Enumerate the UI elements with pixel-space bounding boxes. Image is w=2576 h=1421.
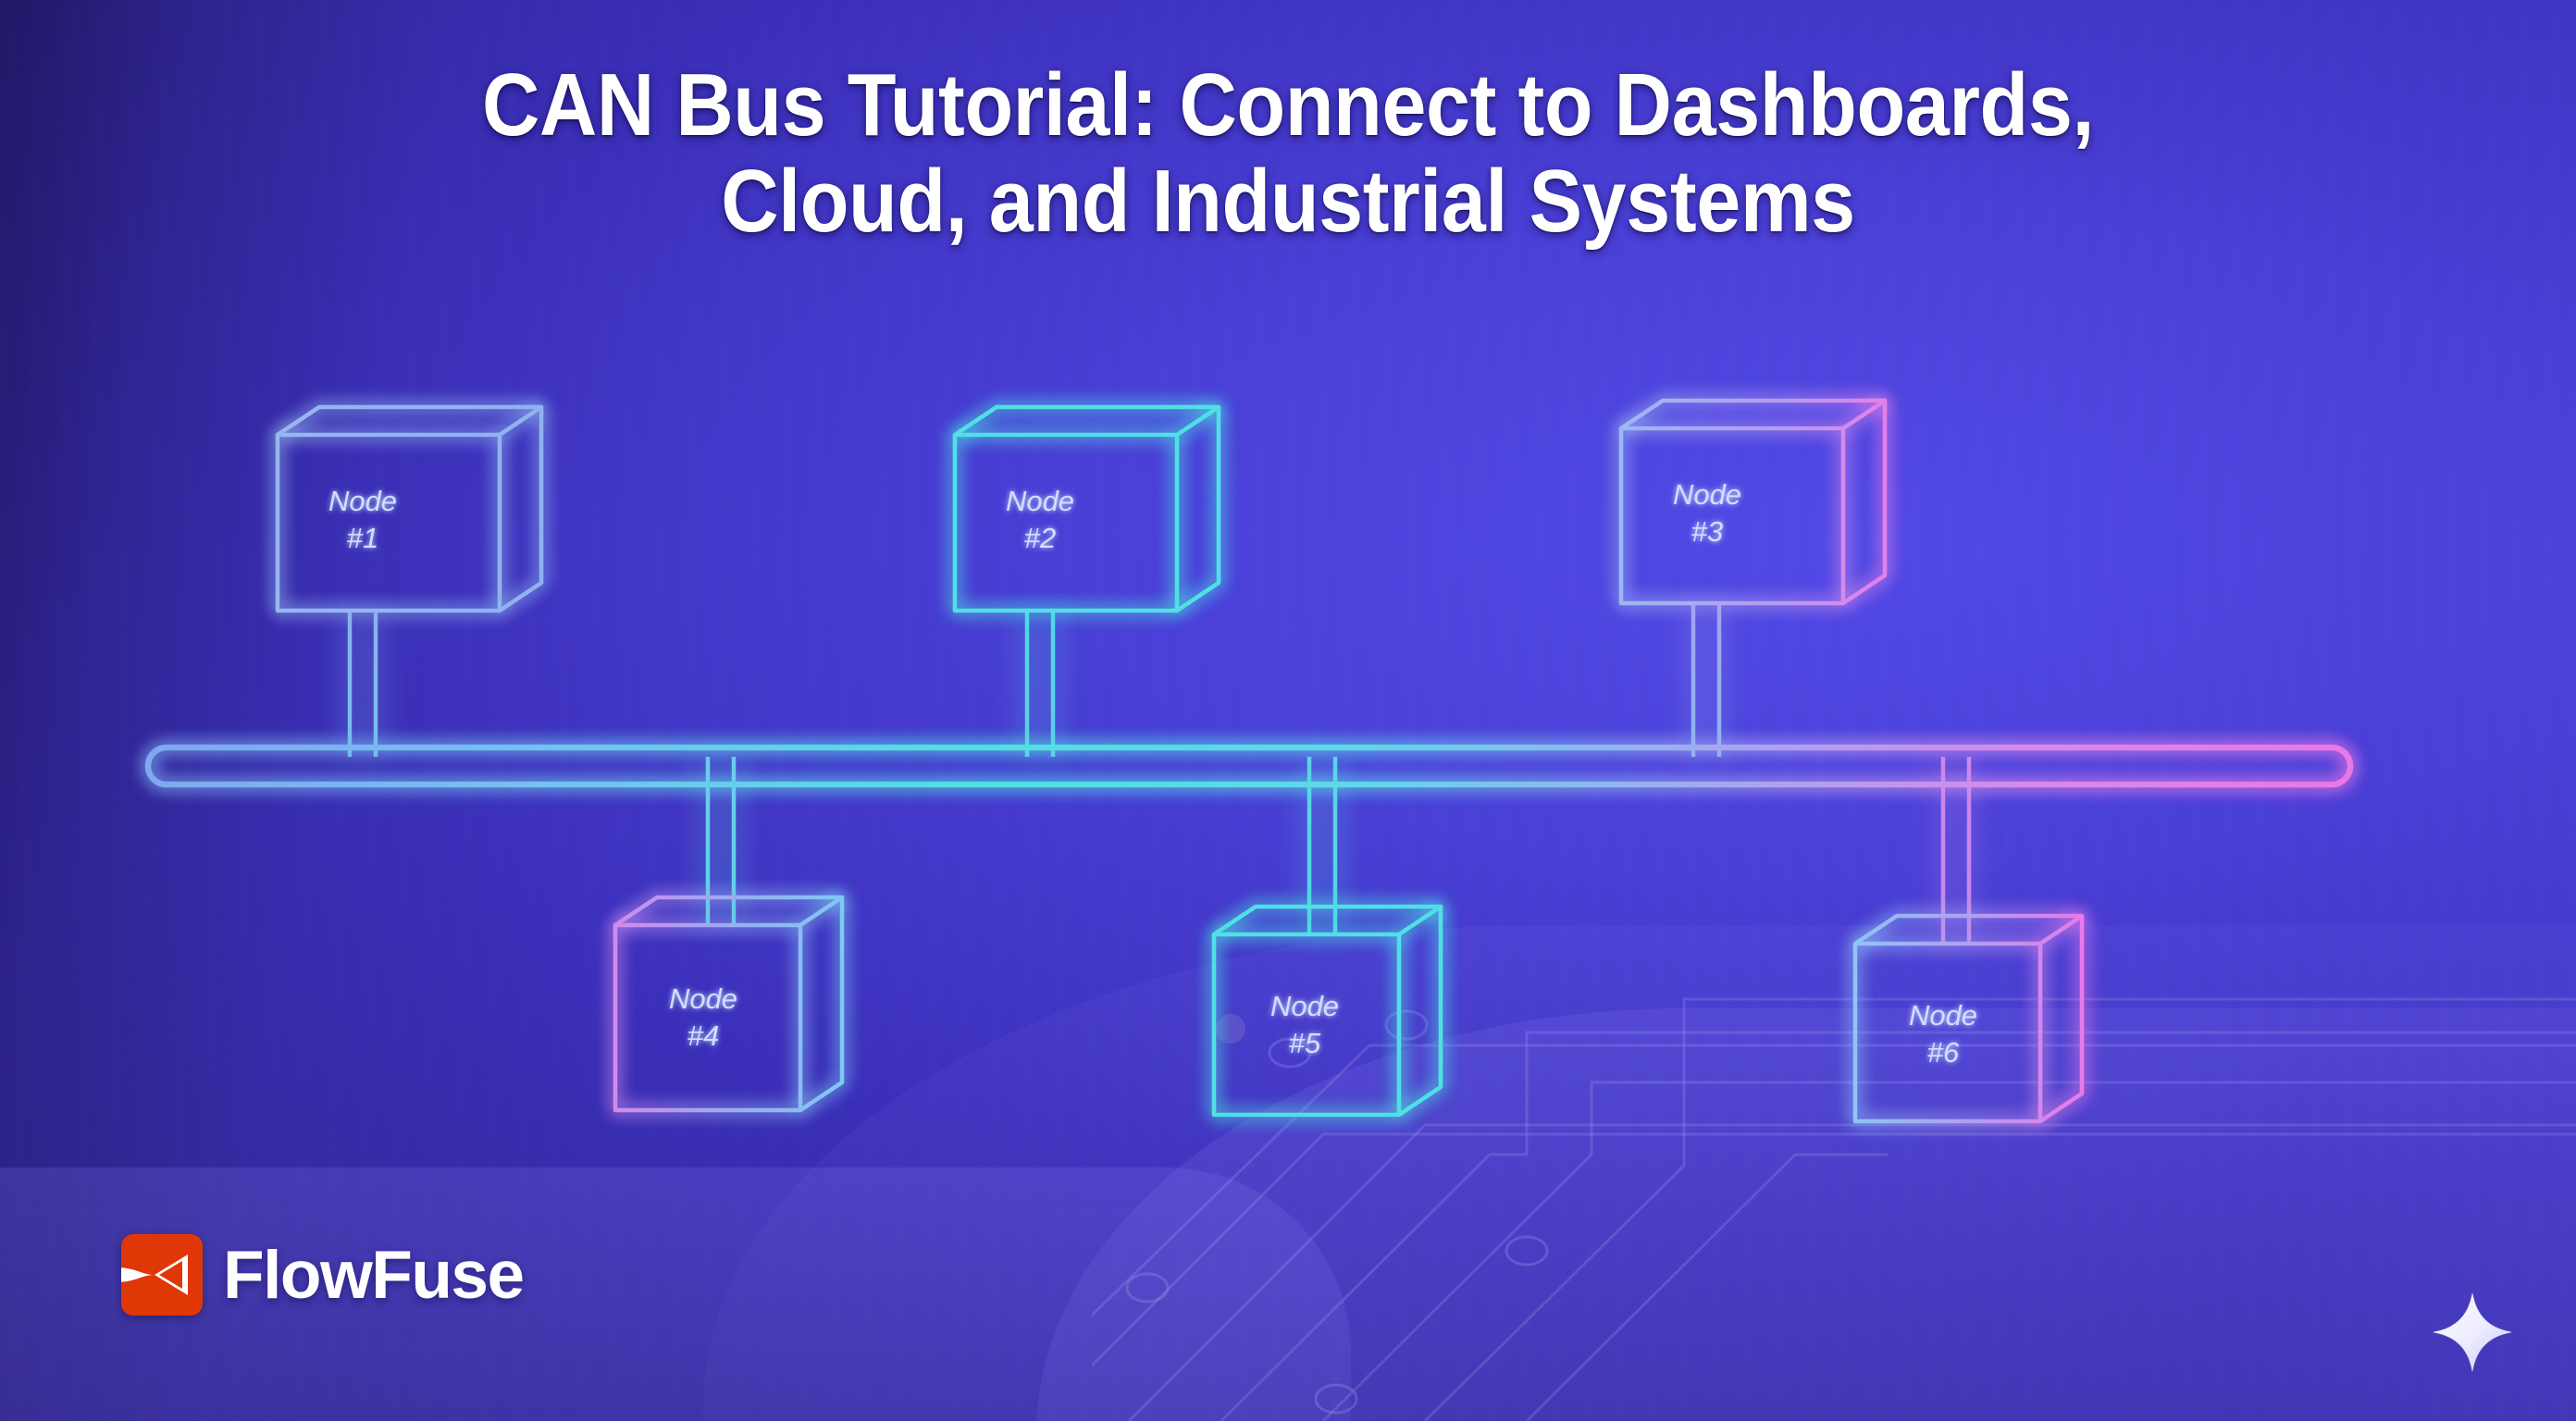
can-bus-backbone <box>148 748 2350 785</box>
flowfuse-logo[interactable]: FlowFuse <box>121 1234 524 1316</box>
flowfuse-mark-icon <box>121 1234 203 1316</box>
flowfuse-wordmark: FlowFuse <box>223 1237 524 1314</box>
node-cube-3 <box>1621 401 1885 603</box>
node-4-label: Node <box>669 982 737 1015</box>
node-3-label: Node <box>1673 478 1741 511</box>
node-cube-1 <box>278 407 541 611</box>
node-2-number: #2 <box>1024 522 1056 554</box>
poster-canvas: CAN Bus Tutorial: Connect to Dashboards,… <box>0 0 2576 1421</box>
node-3-number: #3 <box>1691 515 1723 548</box>
node-5-label: Node <box>1270 990 1339 1022</box>
node-4-number: #4 <box>687 1019 719 1052</box>
four-point-star-icon <box>2430 1290 2515 1375</box>
node-1-number: #1 <box>347 522 378 554</box>
node-6-number: #6 <box>1927 1036 1960 1069</box>
node-6-label: Node <box>1909 999 1977 1032</box>
node-5-number: #5 <box>1289 1027 1321 1059</box>
node-1-label: Node <box>328 485 397 517</box>
can-bus-diagram: Node #1 Node #2 Node #3 Node #4 Node #5 … <box>0 0 2576 1421</box>
node-2-label: Node <box>1006 485 1074 517</box>
node-cube-2 <box>955 407 1219 611</box>
